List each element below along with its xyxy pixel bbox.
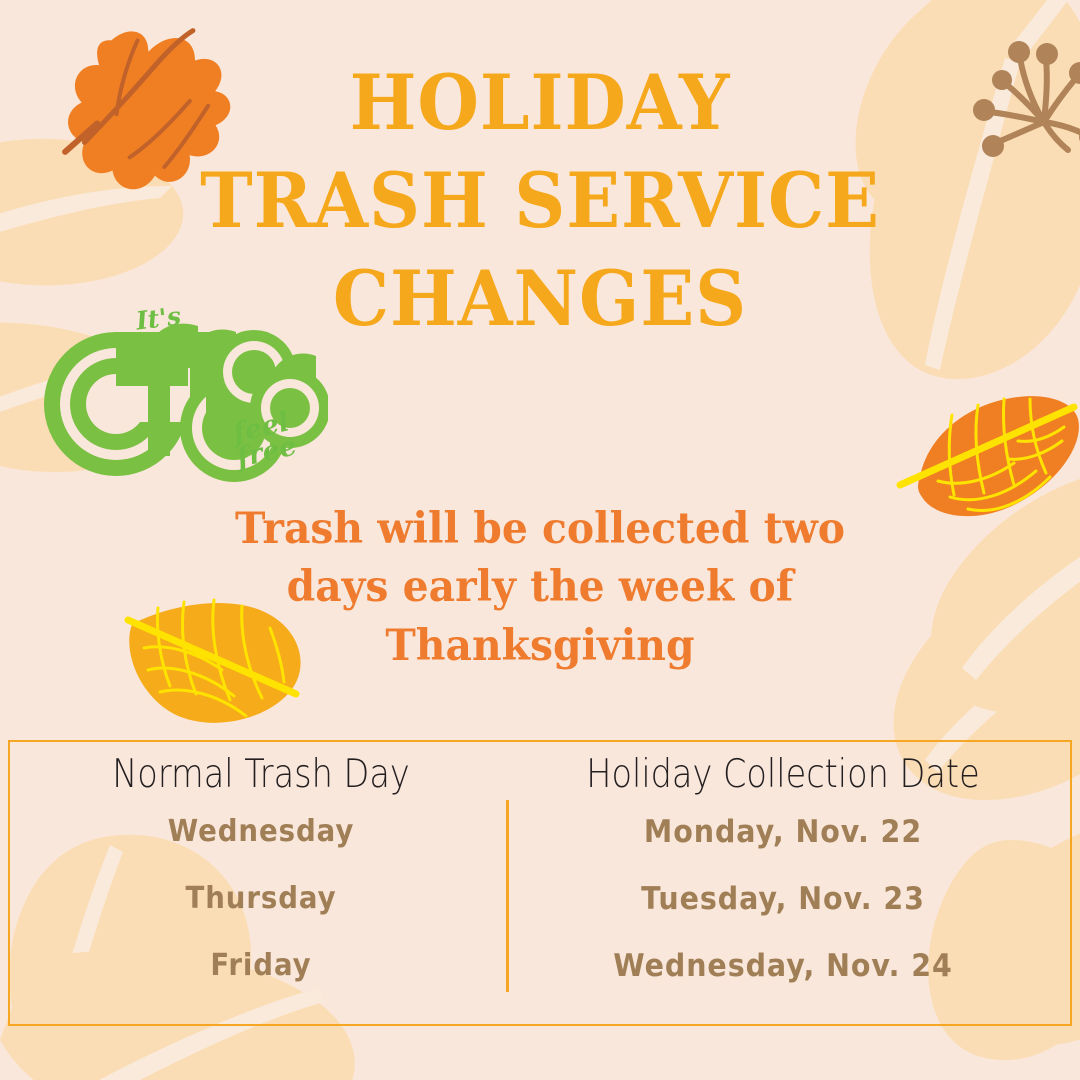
carrboro-logo: It's feel free [38,296,328,506]
carrboro-wordmark-icon [38,296,328,506]
table-row: Thursday [28,879,494,946]
table-row: Tuesday, Nov. 23 [550,879,1016,946]
logo-tagline-top: It's [134,301,182,335]
title-line-2: TRASH SERVICE [38,160,1042,242]
schedule-rows-normal: Wednesday Thursday Friday [8,812,514,1013]
subtitle-text: Trash will be collected two days early t… [208,500,873,675]
leaf-orange-icon [900,396,1079,516]
table-row: Monday, Nov. 22 [550,812,1016,879]
table-row: Wednesday [28,812,494,879]
logo-tagline-bottom: feel free [229,410,299,472]
column-header-holiday-collection-date: Holiday Collection Date [565,752,1000,797]
table-row: Wednesday, Nov. 24 [550,946,1016,1013]
table-row: Friday [28,946,494,1013]
title-line-1: HOLIDAY [38,62,1042,144]
schedule-rows-holiday: Monday, Nov. 22 Tuesday, Nov. 23 Wednesd… [530,812,1036,1013]
poster-canvas: HOLIDAY TRASH SERVICE CHANGES [0,0,1080,1080]
column-header-normal-trash-day: Normal Trash Day [43,752,478,797]
